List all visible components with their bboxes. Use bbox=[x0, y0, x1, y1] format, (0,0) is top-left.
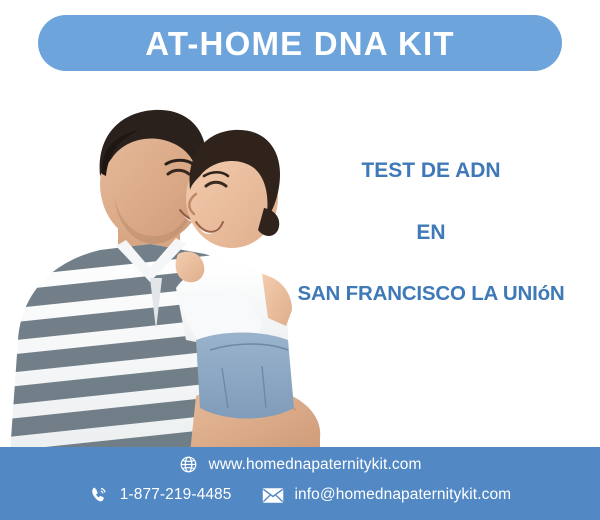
poster-canvas: AT-HOME DNA KIT bbox=[0, 0, 600, 520]
header-badge: AT-HOME DNA KIT bbox=[38, 15, 562, 71]
envelope-icon bbox=[262, 487, 284, 504]
footer-row-phone-email: 1-877-219-4485 info@homednapaternitykit.… bbox=[0, 485, 600, 505]
header-badge-label: AT-HOME DNA KIT bbox=[145, 27, 454, 60]
heading-line-2: EN bbox=[262, 222, 600, 243]
footer-phone-text: 1-877-219-4485 bbox=[120, 487, 232, 503]
phone-icon bbox=[89, 485, 109, 505]
footer-email-item[interactable]: info@homednapaternitykit.com bbox=[262, 487, 512, 504]
globe-icon bbox=[179, 455, 198, 474]
footer-row-website: www.homednapaternitykit.com bbox=[0, 455, 600, 474]
footer-website-item[interactable]: www.homednapaternitykit.com bbox=[179, 455, 422, 474]
heading-line-3: SAN FRANCISCO LA UNIóN bbox=[262, 284, 600, 305]
footer-email-text: info@homednapaternitykit.com bbox=[295, 487, 512, 503]
footer-phone-item[interactable]: 1-877-219-4485 bbox=[89, 485, 232, 505]
headings-block: TEST DE ADN EN SAN FRANCISCO LA UNIóN bbox=[262, 160, 600, 305]
footer-website-text: www.homednapaternitykit.com bbox=[209, 457, 422, 473]
heading-line-1: TEST DE ADN bbox=[262, 160, 600, 181]
footer-contact-bar: www.homednapaternitykit.com 1-877-219-44… bbox=[0, 447, 600, 520]
